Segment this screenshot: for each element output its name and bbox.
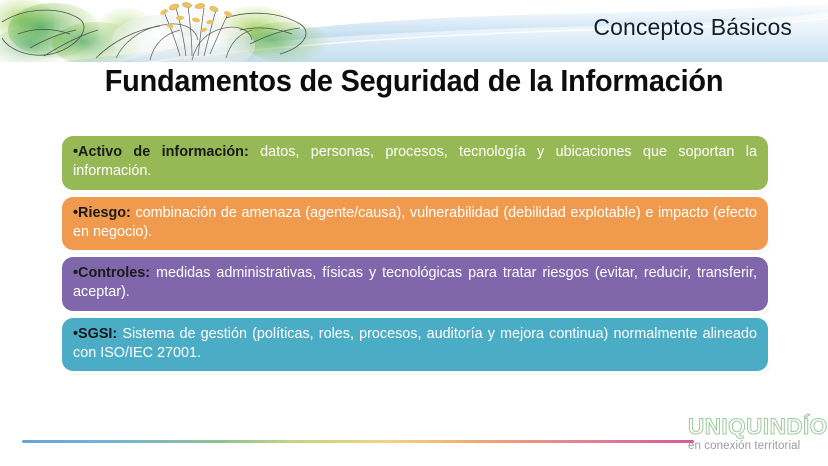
bullet-term: SGSI: <box>78 326 117 342</box>
bullet-box-sgsi[interactable]: •SGSI: Sistema de gestión (políticas, ro… <box>62 318 768 372</box>
bullet-term: Activo de información: <box>78 144 249 160</box>
header-banner: Conceptos Básicos <box>0 0 828 62</box>
bullet-body: Sistema de gestión (políticas, roles, pr… <box>73 326 757 361</box>
footer-gradient-rule <box>22 440 694 443</box>
uniquindio-logo: UNIQUINDÍO en conexión territorial <box>688 416 816 458</box>
header-section-title: Conceptos Básicos <box>593 14 792 41</box>
bullet-box-activo-de-informacion[interactable]: •Activo de información: datos, personas,… <box>62 136 768 190</box>
watercolor-flower-illustration-icon <box>0 0 340 62</box>
bullet-body: medidas administrativas, físicas y tecno… <box>73 265 757 300</box>
bullet-list: •Activo de información: datos, personas,… <box>62 136 768 371</box>
bullet-term: Controles: <box>78 265 150 281</box>
bullet-term: Riesgo: <box>78 205 131 221</box>
bullet-box-riesgo[interactable]: •Riesgo: combinación de amenaza (agente/… <box>62 197 768 251</box>
page-title: Fundamentos de Seguridad de la Informaci… <box>29 63 799 99</box>
logo-tagline: en conexión territorial <box>688 441 816 453</box>
bullet-body: combinación de amenaza (agente/causa), v… <box>73 205 757 240</box>
bullet-box-controles[interactable]: •Controles: medidas administrativas, fís… <box>62 257 768 311</box>
logo-wordmark: UNIQUINDÍO <box>688 416 819 438</box>
